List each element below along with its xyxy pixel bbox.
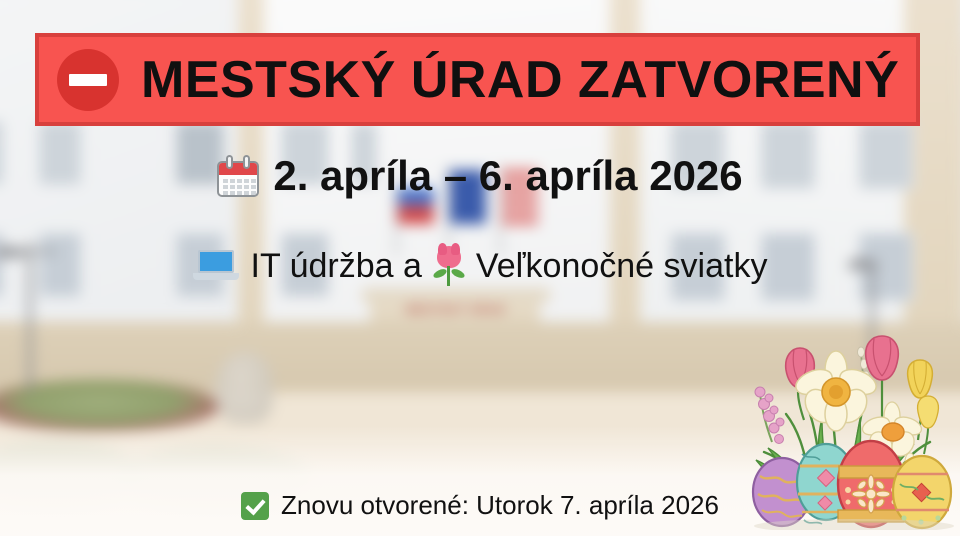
reopen-text: Znovu otvorené: Utorok 7. apríla 2026: [281, 490, 719, 521]
building-sign-text: MESTSKÝ ÚRAD: [385, 302, 527, 318]
reason-text-after: Veľkonočné sviatky: [476, 247, 768, 286]
laptop-icon: [193, 249, 239, 283]
banner-title: MESTSKÝ ÚRAD ZATVORENÝ: [141, 50, 899, 110]
reopen-line: Znovu otvorené: Utorok 7. apríla 2026: [0, 490, 960, 521]
closure-announcement-poster: MESTSKÝ ÚRAD: [0, 0, 960, 536]
tulip-icon: [432, 246, 466, 286]
no-entry-icon: [57, 49, 119, 111]
closed-banner: MESTSKÝ ÚRAD ZATVORENÝ: [35, 33, 920, 126]
closure-date-line: 2. apríla – 6. apríla 2026: [0, 152, 960, 200]
statue: [215, 352, 273, 424]
closure-reason-line: IT údržba a Veľkonočné sviatky: [0, 246, 960, 286]
white-check-mark-icon: [241, 492, 269, 520]
reason-text-before: IT údržba a: [251, 247, 422, 286]
closure-date-text: 2. apríla – 6. apríla 2026: [273, 152, 742, 200]
calendar-icon: [217, 155, 259, 197]
